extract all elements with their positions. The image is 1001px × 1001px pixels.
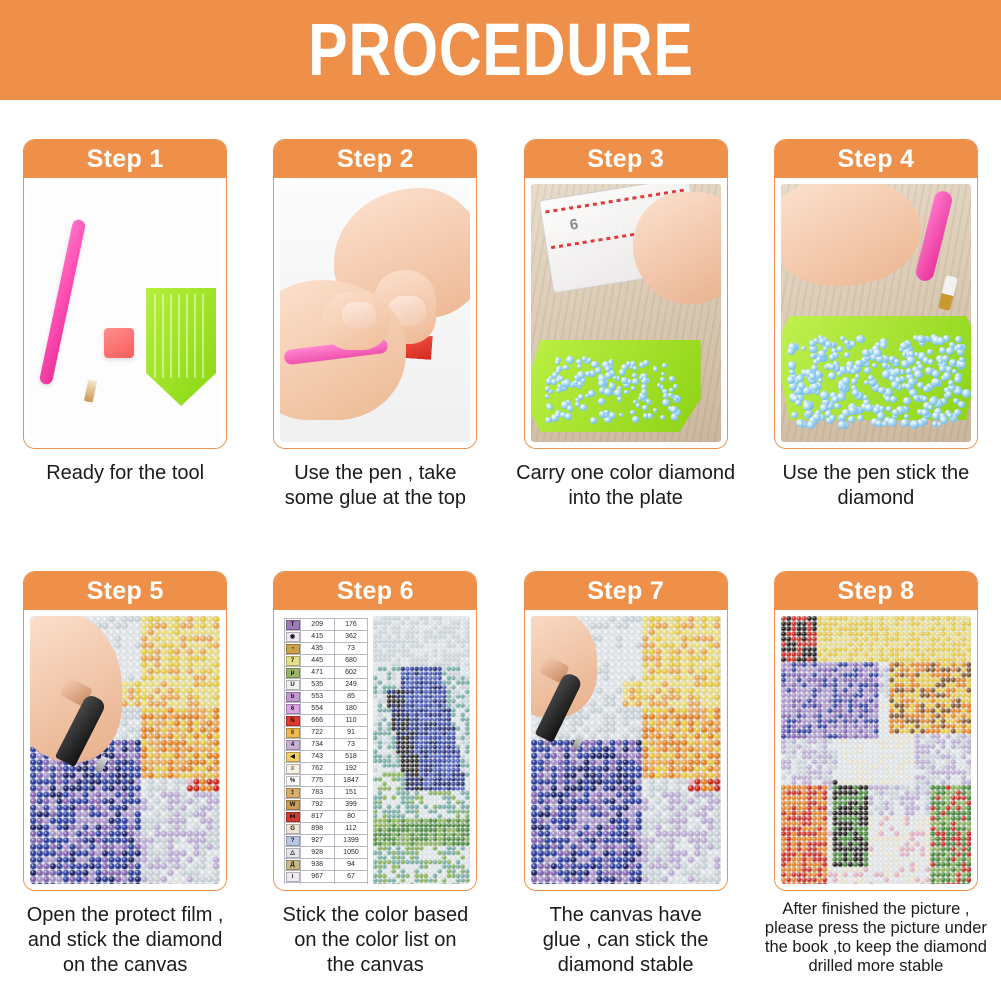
color-count: 1050	[334, 847, 368, 859]
color-chart-row: ◔43573	[285, 643, 368, 655]
color-chart-row: μ471602	[285, 667, 368, 679]
color-code: 666	[300, 715, 334, 727]
color-swatch: ‖	[285, 727, 300, 739]
step-cell-1: Step 1 Ready for the t	[0, 139, 250, 511]
pink-pen-icon	[39, 218, 87, 385]
step-caption-4: Use the pen stick the diamond	[760, 461, 992, 511]
step-caption-3: Carry one color diamond into the plate	[510, 461, 742, 511]
color-count: 180	[334, 703, 368, 715]
pour-diamonds-photo: 6	[531, 184, 721, 442]
step-header-7: Step 7	[525, 572, 727, 610]
color-swatch: ‡	[285, 787, 300, 799]
color-count: 362	[334, 631, 368, 643]
color-chart-row: 473473	[285, 739, 368, 751]
color-swatch: b	[285, 691, 300, 703]
steps-row-bottom: Step 5 Open the protect film , and stick…	[0, 571, 1001, 978]
color-swatch: μ	[285, 667, 300, 679]
color-count: 85	[334, 691, 368, 703]
color-swatch: ?	[285, 835, 300, 847]
step-cell-3: Step 3 6 Carry one color diamond into th…	[501, 139, 751, 511]
step-caption-2: Use the pen , take some glue at the top	[259, 461, 491, 511]
color-code: 938	[300, 859, 334, 871]
color-code: 734	[300, 739, 334, 751]
color-code: 743	[300, 751, 334, 763]
color-swatch: ◉	[285, 631, 300, 643]
color-code: 927	[300, 835, 334, 847]
color-code: 898	[300, 823, 334, 835]
color-code: 554	[300, 703, 334, 715]
color-code: 928	[300, 847, 334, 859]
color-code: 783	[300, 787, 334, 799]
color-code: 792	[300, 799, 334, 811]
color-swatch: ⋈	[285, 811, 300, 823]
step-header-1: Step 1	[24, 140, 226, 178]
color-count: 680	[334, 655, 368, 667]
step-card-3[interactable]: Step 3 6	[524, 139, 728, 449]
color-swatch: △	[285, 847, 300, 859]
step-card-2[interactable]: Step 2	[273, 139, 477, 449]
color-chart-row: ‖72291	[285, 727, 368, 739]
color-code: 722	[300, 727, 334, 739]
color-count: 73	[334, 739, 368, 751]
step-caption-5: Open the protect film , and stick the di…	[9, 903, 241, 978]
step-header-4: Step 4	[775, 140, 977, 178]
step-caption-1: Ready for the tool	[9, 461, 241, 486]
fingernail-icon	[342, 302, 376, 328]
step-card-1[interactable]: Step 1	[23, 139, 227, 449]
color-chart-row: △9281050	[285, 847, 368, 859]
step-header-2: Step 2	[274, 140, 476, 178]
color-code: 209	[300, 619, 334, 631]
color-swatch: %	[285, 775, 300, 787]
green-tray-icon	[146, 288, 216, 406]
page-title: PROCEDURE	[308, 13, 693, 87]
color-chart-row: Д93894	[285, 859, 368, 871]
press-diamond-photo	[531, 616, 721, 884]
step-cell-7: Step 7 The canvas have glue , can stick …	[501, 571, 751, 978]
color-count: 109	[334, 883, 368, 885]
color-chart-row: b55385	[285, 691, 368, 703]
stick-diamond-photo	[30, 616, 220, 884]
color-chart-row: 7445680	[285, 655, 368, 667]
color-chart-row: ◀743518	[285, 751, 368, 763]
color-count: 1847	[334, 775, 368, 787]
color-swatch: W	[285, 799, 300, 811]
color-chart-table: T209176◉415362◔435737445680μ471602U53524…	[284, 618, 368, 884]
glue-pickup-photo	[280, 184, 470, 442]
step-card-8[interactable]: Step 8	[774, 571, 978, 891]
color-chart-row: ≀96767	[285, 871, 368, 883]
step-image-2	[274, 178, 476, 448]
step-card-7[interactable]: Step 7	[524, 571, 728, 891]
color-code: 471	[300, 667, 334, 679]
step-image-6: T209176◉415362◔435737445680μ471602U53524…	[274, 610, 476, 890]
color-chart-row: ≡762192	[285, 763, 368, 775]
color-count: 110	[334, 715, 368, 727]
color-swatch: 4	[285, 739, 300, 751]
color-count: 399	[334, 799, 368, 811]
steps-row-top: Step 1 Ready for the t	[0, 139, 1001, 511]
color-swatch: ◔	[285, 643, 300, 655]
color-chart-row: Ɔ975109	[285, 883, 368, 885]
color-count: 249	[334, 679, 368, 691]
color-chart-row: ⋈81780	[285, 811, 368, 823]
color-chart-row: ‡783151	[285, 787, 368, 799]
color-chart-row: ?9271399	[285, 835, 368, 847]
color-chart-row: G898112	[285, 823, 368, 835]
step-cell-6: Step 6 T209176◉415362◔435737445680μ47160…	[250, 571, 500, 978]
color-code: 445	[300, 655, 334, 667]
color-count: 192	[334, 763, 368, 775]
step-image-1	[24, 178, 226, 448]
color-list-photo: T209176◉415362◔435737445680μ471602U53524…	[280, 616, 470, 884]
color-swatch: ◀	[285, 751, 300, 763]
color-swatch: ≀	[285, 871, 300, 883]
color-code: 967	[300, 871, 334, 883]
color-swatch: G	[285, 823, 300, 835]
blue-diamonds-group	[531, 184, 721, 442]
color-code: 415	[300, 631, 334, 643]
color-swatch: N	[285, 715, 300, 727]
color-code: 817	[300, 811, 334, 823]
color-code: 775	[300, 775, 334, 787]
color-count: 91	[334, 727, 368, 739]
color-count: 112	[334, 823, 368, 835]
page-banner: PROCEDURE	[0, 0, 1001, 100]
step-cell-2: Step 2 Use the pen , take some	[250, 139, 500, 511]
color-code: 553	[300, 691, 334, 703]
step-caption-8: After finished the picture , please pres…	[754, 900, 998, 976]
mosaic-canvas	[781, 616, 971, 884]
color-swatch: ≡	[285, 763, 300, 775]
color-chart-row: ◉415362	[285, 631, 368, 643]
color-count: 518	[334, 751, 368, 763]
glue-clay-icon	[104, 328, 134, 358]
tools-photo	[30, 184, 220, 442]
color-count: 80	[334, 811, 368, 823]
step-card-5[interactable]: Step 5	[23, 571, 227, 891]
color-swatch: T	[285, 619, 300, 631]
step-image-4	[775, 178, 977, 448]
step-header-6: Step 6	[274, 572, 476, 610]
step-caption-6: Stick the color based on the color list …	[259, 903, 491, 978]
step-caption-7: The canvas have glue , can stick the dia…	[510, 903, 742, 978]
color-chart: T209176◉415362◔435737445680μ471602U53524…	[280, 616, 370, 884]
pick-diamond-photo	[781, 184, 971, 442]
color-chart-row: %7751847	[285, 775, 368, 787]
color-swatch: 6	[285, 703, 300, 715]
color-code: 762	[300, 763, 334, 775]
step-cell-4: Step 4 Use the pen stick the diamond	[751, 139, 1001, 511]
color-count: 1399	[334, 835, 368, 847]
color-code: 975	[300, 883, 334, 885]
step-card-6[interactable]: Step 6 T209176◉415362◔435737445680μ47160…	[273, 571, 477, 891]
color-swatch: Ɔ	[285, 883, 300, 885]
step-image-5	[24, 610, 226, 890]
pen-tip-icon	[84, 379, 97, 402]
color-count: 602	[334, 667, 368, 679]
color-swatch: 7	[285, 655, 300, 667]
step-card-4[interactable]: Step 4	[774, 139, 978, 449]
color-count: 176	[334, 619, 368, 631]
step-cell-5: Step 5 Open the protect film , and stick…	[0, 571, 250, 978]
step-image-8	[775, 610, 977, 890]
finished-painting-photo	[781, 616, 971, 884]
color-count: 151	[334, 787, 368, 799]
color-chart-row: N666110	[285, 715, 368, 727]
mosaic-canvas	[373, 616, 470, 884]
step-header-8: Step 8	[775, 572, 977, 610]
step-image-7	[525, 610, 727, 890]
color-chart-row: T209176	[285, 619, 368, 631]
color-chart-row: U535249	[285, 679, 368, 691]
color-count: 73	[334, 643, 368, 655]
step-cell-8: Step 8 After finished the picture , plea…	[751, 571, 1001, 978]
color-count: 94	[334, 859, 368, 871]
color-code: 535	[300, 679, 334, 691]
step-image-3: 6	[525, 178, 727, 448]
color-code: 435	[300, 643, 334, 655]
color-count: 67	[334, 871, 368, 883]
step-header-3: Step 3	[525, 140, 727, 178]
color-swatch: U	[285, 679, 300, 691]
step-header-5: Step 5	[24, 572, 226, 610]
color-chart-row: W792399	[285, 799, 368, 811]
color-chart-row: 6554180	[285, 703, 368, 715]
procedure-infographic: PROCEDURE Step 1	[0, 0, 1001, 1001]
color-swatch: Д	[285, 859, 300, 871]
